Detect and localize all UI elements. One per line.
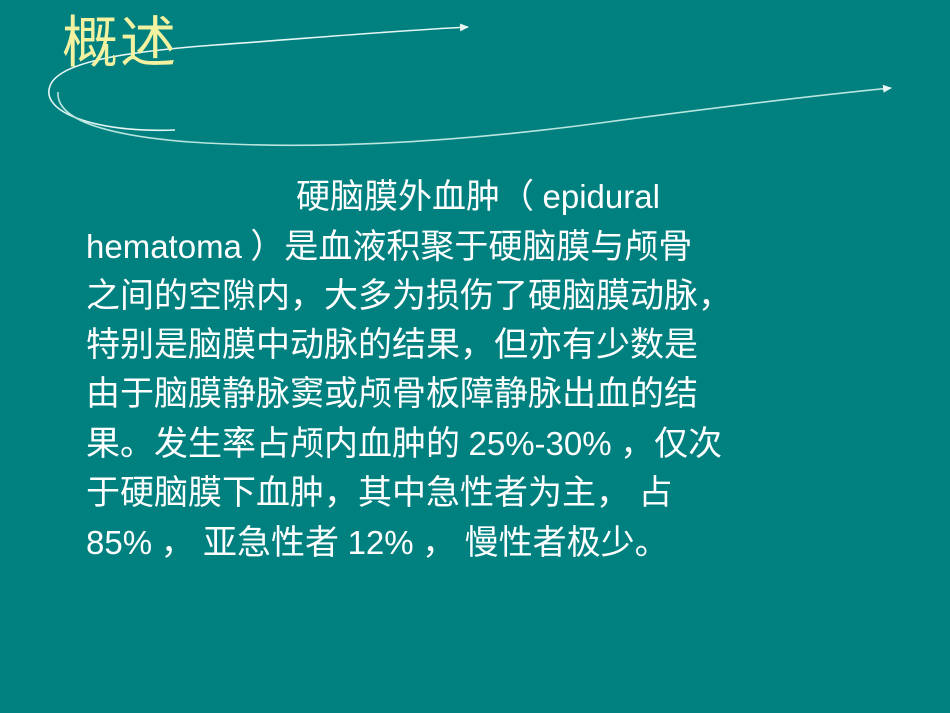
body-line: 85% ， 亚急性者 12% ， 慢性者极少。 <box>86 518 870 568</box>
cjk-run: ， 慢性者极少。 <box>414 525 669 562</box>
body-line: 由于脑膜静脉窦或颅骨板障静脉出血的结 <box>86 370 870 419</box>
body-line: hematoma ）是血液积聚于硬脑膜与颅骨 <box>86 222 870 272</box>
swoosh-line-lower <box>58 88 891 145</box>
cjk-run: 果。发生率占颅内血肿的 <box>86 426 469 463</box>
latin-run: 12% <box>348 524 414 561</box>
body-line: 果。发生率占颅内血肿的 25%-30% ，仅次 <box>86 419 870 469</box>
cjk-run: ，仅次 <box>612 426 723 463</box>
slide-body-text: 硬脑膜外血肿（ epiduralhematoma ）是血液积聚于硬脑膜与颅骨之间… <box>86 172 870 568</box>
page-title: 概述 <box>62 13 178 75</box>
cjk-run: 硬脑膜外血肿（ <box>296 179 543 216</box>
body-line: 硬脑膜外血肿（ epidural <box>86 172 870 222</box>
body-line: 之间的空隙内，大多为损伤了硬脑膜动脉， <box>86 272 870 321</box>
cjk-run: ）是血液积聚于硬脑膜与颅骨 <box>242 229 693 266</box>
body-line: 特别是脑膜中动脉的结果，但亦有少数是 <box>86 321 870 370</box>
latin-run: hematoma <box>86 228 242 265</box>
cjk-run: 特别是脑膜中动脉的结果，但亦有少数是 <box>86 327 698 364</box>
cjk-run: 之间的空隙内，大多为损伤了硬脑膜动脉， <box>86 278 732 315</box>
latin-run: 85% <box>86 524 152 561</box>
cjk-run: ， 亚急性者 <box>152 525 348 562</box>
cjk-run: 由于脑膜静脉窦或颅骨板障静脉出血的结 <box>86 376 698 413</box>
latin-run: epidural <box>543 178 660 215</box>
body-line: 于硬脑膜下血肿，其中急性者为主， 占 <box>86 469 870 518</box>
latin-run: 25%-30% <box>469 425 612 462</box>
presentation-slide: 概述 硬脑膜外血肿（ epiduralhematoma ）是血液积聚于硬脑膜与颅… <box>0 0 950 713</box>
cjk-run: 于硬脑膜下血肿，其中急性者为主， 占 <box>86 475 673 512</box>
